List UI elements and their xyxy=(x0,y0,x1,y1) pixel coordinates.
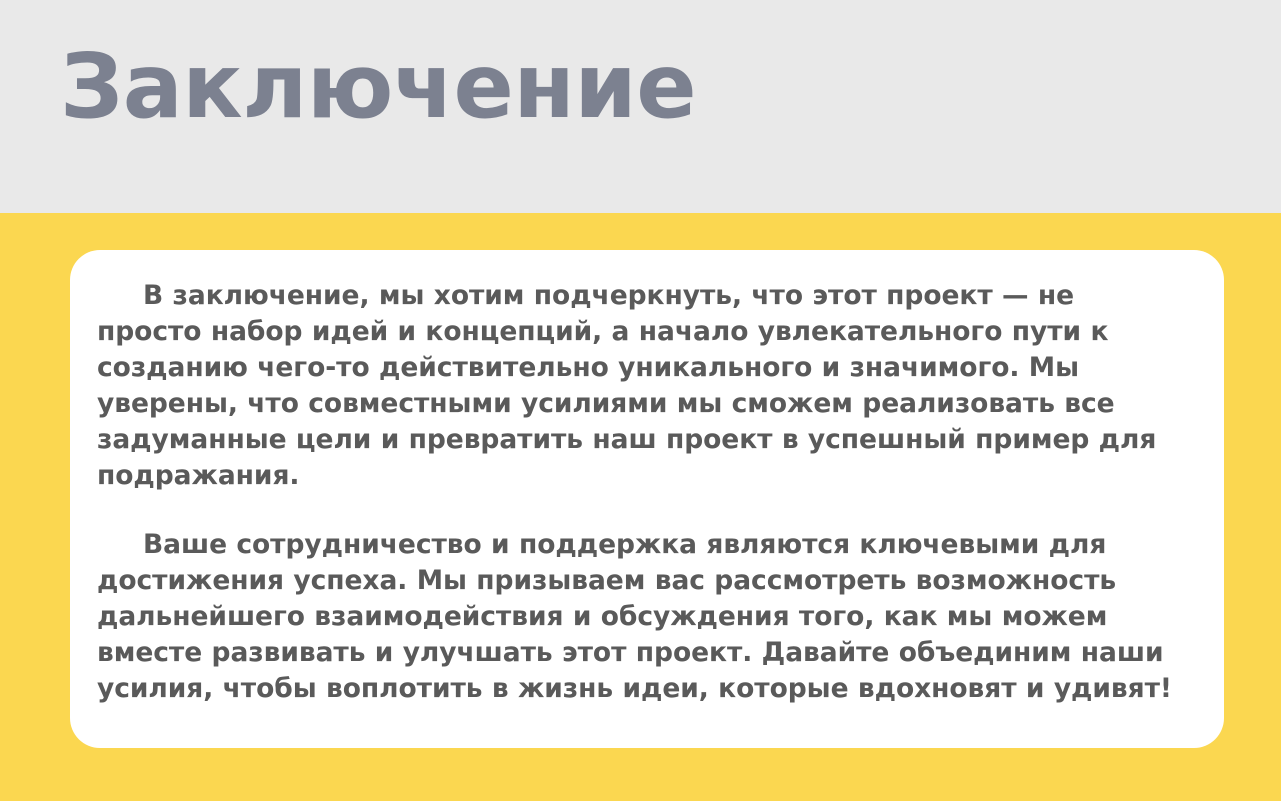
body-paragraph-2: Ваше сотрудничество и поддержка являются… xyxy=(97,527,1184,707)
presentation-slide: Заключение В заключение, мы хотим подчер… xyxy=(0,0,1281,801)
page-title: Заключение xyxy=(60,38,696,134)
body-paragraph-1: В заключение, мы хотим подчеркнуть, что … xyxy=(97,278,1184,494)
slide-body-area: В заключение, мы хотим подчеркнуть, что … xyxy=(0,213,1281,801)
content-card: В заключение, мы хотим подчеркнуть, что … xyxy=(70,250,1224,748)
slide-header-band: Заключение xyxy=(0,0,1281,213)
